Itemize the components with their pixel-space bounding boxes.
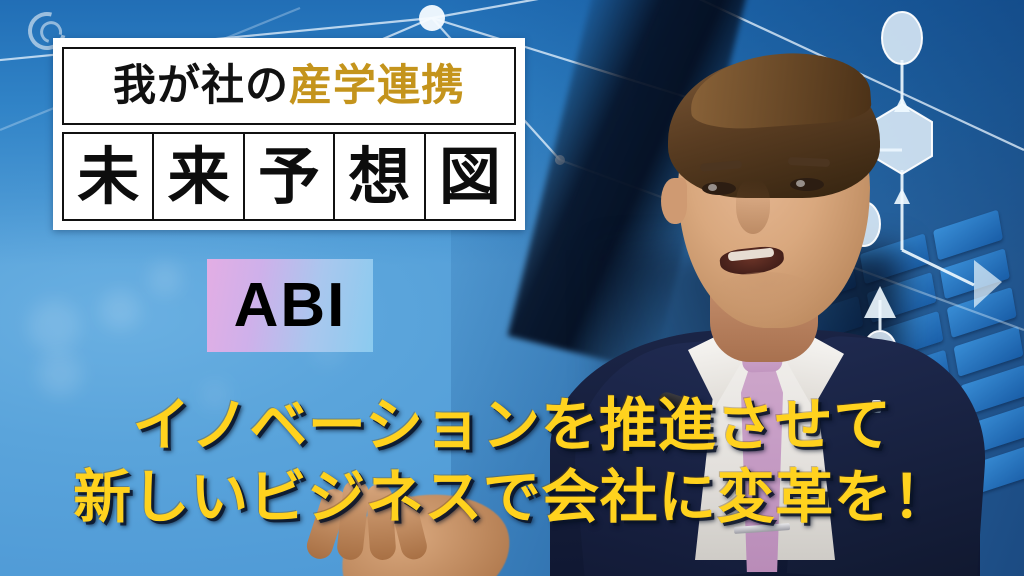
abi-badge-label: ABI xyxy=(234,270,347,341)
title-char-accent: 連 xyxy=(377,65,421,108)
title-cell-char: 想 xyxy=(348,146,410,208)
eye-highlight-left xyxy=(708,184,717,191)
title-cell-char: 来 xyxy=(168,146,230,208)
title-char: 社 xyxy=(201,65,245,108)
title-cell-char: 図 xyxy=(439,146,501,208)
title-char-accent: 携 xyxy=(421,65,465,108)
title-cell: 想 xyxy=(333,132,425,221)
title-cell: 未 xyxy=(62,132,154,221)
headline-text: イノベーションを推進させて 新しいビジネスで会社に変革を！ xyxy=(0,396,1024,527)
eye-left xyxy=(702,182,736,195)
title-cell: 図 xyxy=(424,132,516,221)
title-char: 我 xyxy=(113,65,157,108)
chin xyxy=(708,272,824,328)
title-char-accent: 学 xyxy=(333,65,377,108)
headline-line-2: 新しいビジネスで会社に変革を！ xyxy=(0,468,1024,528)
title-char-accent: 産 xyxy=(289,65,333,108)
title-cell: 予 xyxy=(243,132,335,221)
title-row-secondary: 未 来 予 想 図 xyxy=(62,132,516,221)
thumbnail-canvas: 我 が 社 の 産 学 連 携 未 来 予 想 図 ABI イノベーションを推進… xyxy=(0,0,1024,576)
eye-right xyxy=(790,178,824,191)
nose xyxy=(736,180,770,234)
eye-highlight-right xyxy=(796,180,805,187)
title-row-primary: 我 が 社 の 産 学 連 携 xyxy=(62,47,516,125)
title-cell-char: 未 xyxy=(77,146,139,208)
abi-badge: ABI xyxy=(207,259,373,352)
title-char: が xyxy=(157,65,201,108)
title-char: の xyxy=(245,65,289,108)
ear xyxy=(661,178,687,224)
hair-highlight xyxy=(688,48,873,132)
title-cell-char: 予 xyxy=(258,146,320,208)
title-cell: 来 xyxy=(152,132,244,221)
headline-line-1: イノベーションを推進させて xyxy=(0,396,1024,456)
title-plate: 我 が 社 の 産 学 連 携 未 来 予 想 図 xyxy=(53,38,525,230)
